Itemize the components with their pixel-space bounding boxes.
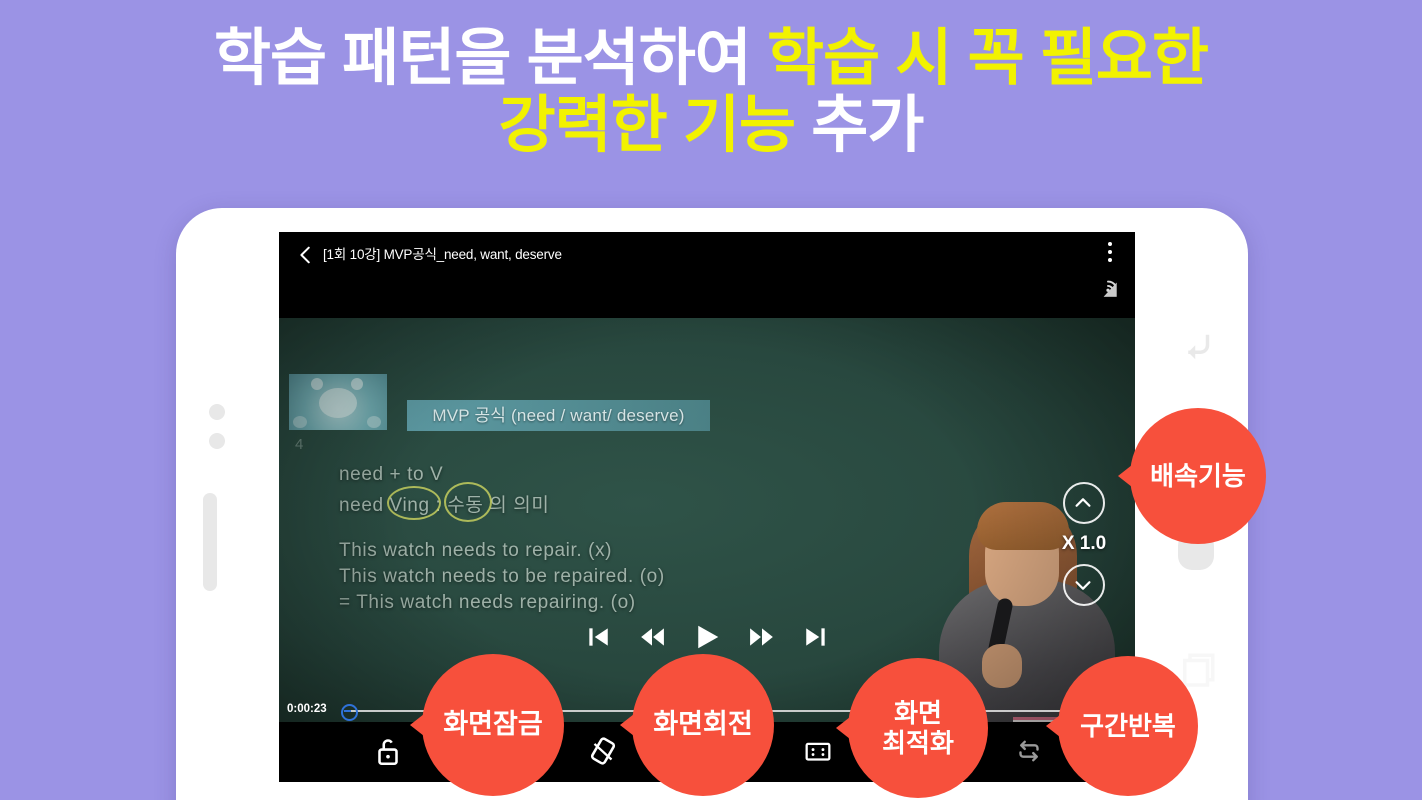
blackboard-line-5: = This watch needs repairing. (o) — [339, 592, 636, 614]
slide-number: 4 — [295, 436, 303, 453]
callout-screen-optimize: 화면 최적화 — [848, 658, 988, 798]
fit-screen-icon[interactable] — [801, 734, 835, 768]
play-icon[interactable] — [692, 622, 722, 652]
player-topbar: [1회 10강] MVP공식_need, want, deserve — [279, 232, 1135, 316]
overflow-menu-icon[interactable] — [1108, 242, 1113, 266]
callout-screen-optimize-label: 화면 최적화 — [882, 698, 954, 758]
callout-screen-lock-label: 화면잠금 — [443, 709, 542, 740]
promo-banner: 학습 패턴을 분석하여 학습 시 꼭 필요한 강력한 기능 추가 — [0, 0, 1422, 800]
blackboard-line-1: need + to V — [339, 464, 443, 486]
chevron-up-icon[interactable] — [1063, 482, 1105, 524]
annotation-circle-1 — [387, 486, 441, 520]
elapsed-time-label: 0:00:23 — [287, 703, 327, 715]
fast-forward-icon[interactable] — [748, 624, 776, 650]
callout-speed: 배속기능 — [1130, 408, 1266, 544]
chevron-left-icon[interactable] — [295, 244, 317, 266]
headline-line-2-yellow: 강력한 기능 — [499, 91, 795, 160]
callout-optimize-line-2: 최적화 — [882, 728, 954, 758]
callout-screen-rotate-label: 화면회전 — [653, 709, 752, 740]
headline-line-1-yellow: 학습 시 꼭 필요한 — [767, 24, 1208, 93]
headline-line-1: 학습 패턴을 분석하여 학습 시 꼭 필요한 — [0, 26, 1422, 93]
chevron-down-icon[interactable] — [1063, 564, 1105, 606]
sensor-dot-2 — [209, 433, 225, 449]
headline-line-2-white: 추가 — [795, 91, 923, 160]
skip-next-icon[interactable] — [802, 624, 830, 650]
playback-speed-control: X 1.0 — [1055, 482, 1113, 606]
repeat-icon[interactable] — [1012, 734, 1046, 768]
volume-rocker[interactable] — [203, 493, 217, 591]
blackboard-line-3: This watch needs to repair. (x) — [339, 540, 612, 562]
callout-optimize-line-1: 화면 — [894, 698, 942, 728]
headline-line-2: 강력한 기능 추가 — [0, 93, 1422, 160]
annotation-circle-2 — [444, 482, 492, 522]
skip-previous-icon[interactable] — [584, 624, 612, 650]
callout-screen-lock: 화면잠금 — [422, 654, 564, 796]
slide-banner-title: MVP 공식 (need / want/ deserve) — [407, 400, 710, 431]
page-title: 학습 패턴을 분석하여 학습 시 꼭 필요한 강력한 기능 추가 — [0, 26, 1422, 160]
callout-section-repeat: 구간반복 — [1058, 656, 1198, 796]
wifi-signal-icon — [1095, 274, 1121, 300]
callout-section-repeat-label: 구간반복 — [1080, 711, 1176, 741]
nav-back-icon[interactable] — [1176, 326, 1218, 368]
progress-scrubber-handle[interactable] — [341, 704, 358, 721]
speed-value-label: X 1.0 — [1055, 533, 1113, 555]
rewind-icon[interactable] — [638, 624, 666, 650]
blackboard-line-4: This watch needs to be repaired. (o) — [339, 566, 665, 588]
headline-line-1-white: 학습 패턴을 분석하여 — [214, 24, 767, 93]
callout-screen-rotate: 화면회전 — [632, 654, 774, 796]
slide-thumbnail — [289, 374, 387, 430]
sensor-dot-1 — [209, 404, 225, 420]
video-title: [1회 10강] MVP공식_need, want, deserve — [323, 243, 562, 263]
callout-speed-label: 배속기능 — [1150, 461, 1246, 491]
lock-icon[interactable] — [371, 734, 405, 768]
transport-controls — [279, 622, 1135, 652]
rotate-icon[interactable] — [586, 734, 620, 768]
